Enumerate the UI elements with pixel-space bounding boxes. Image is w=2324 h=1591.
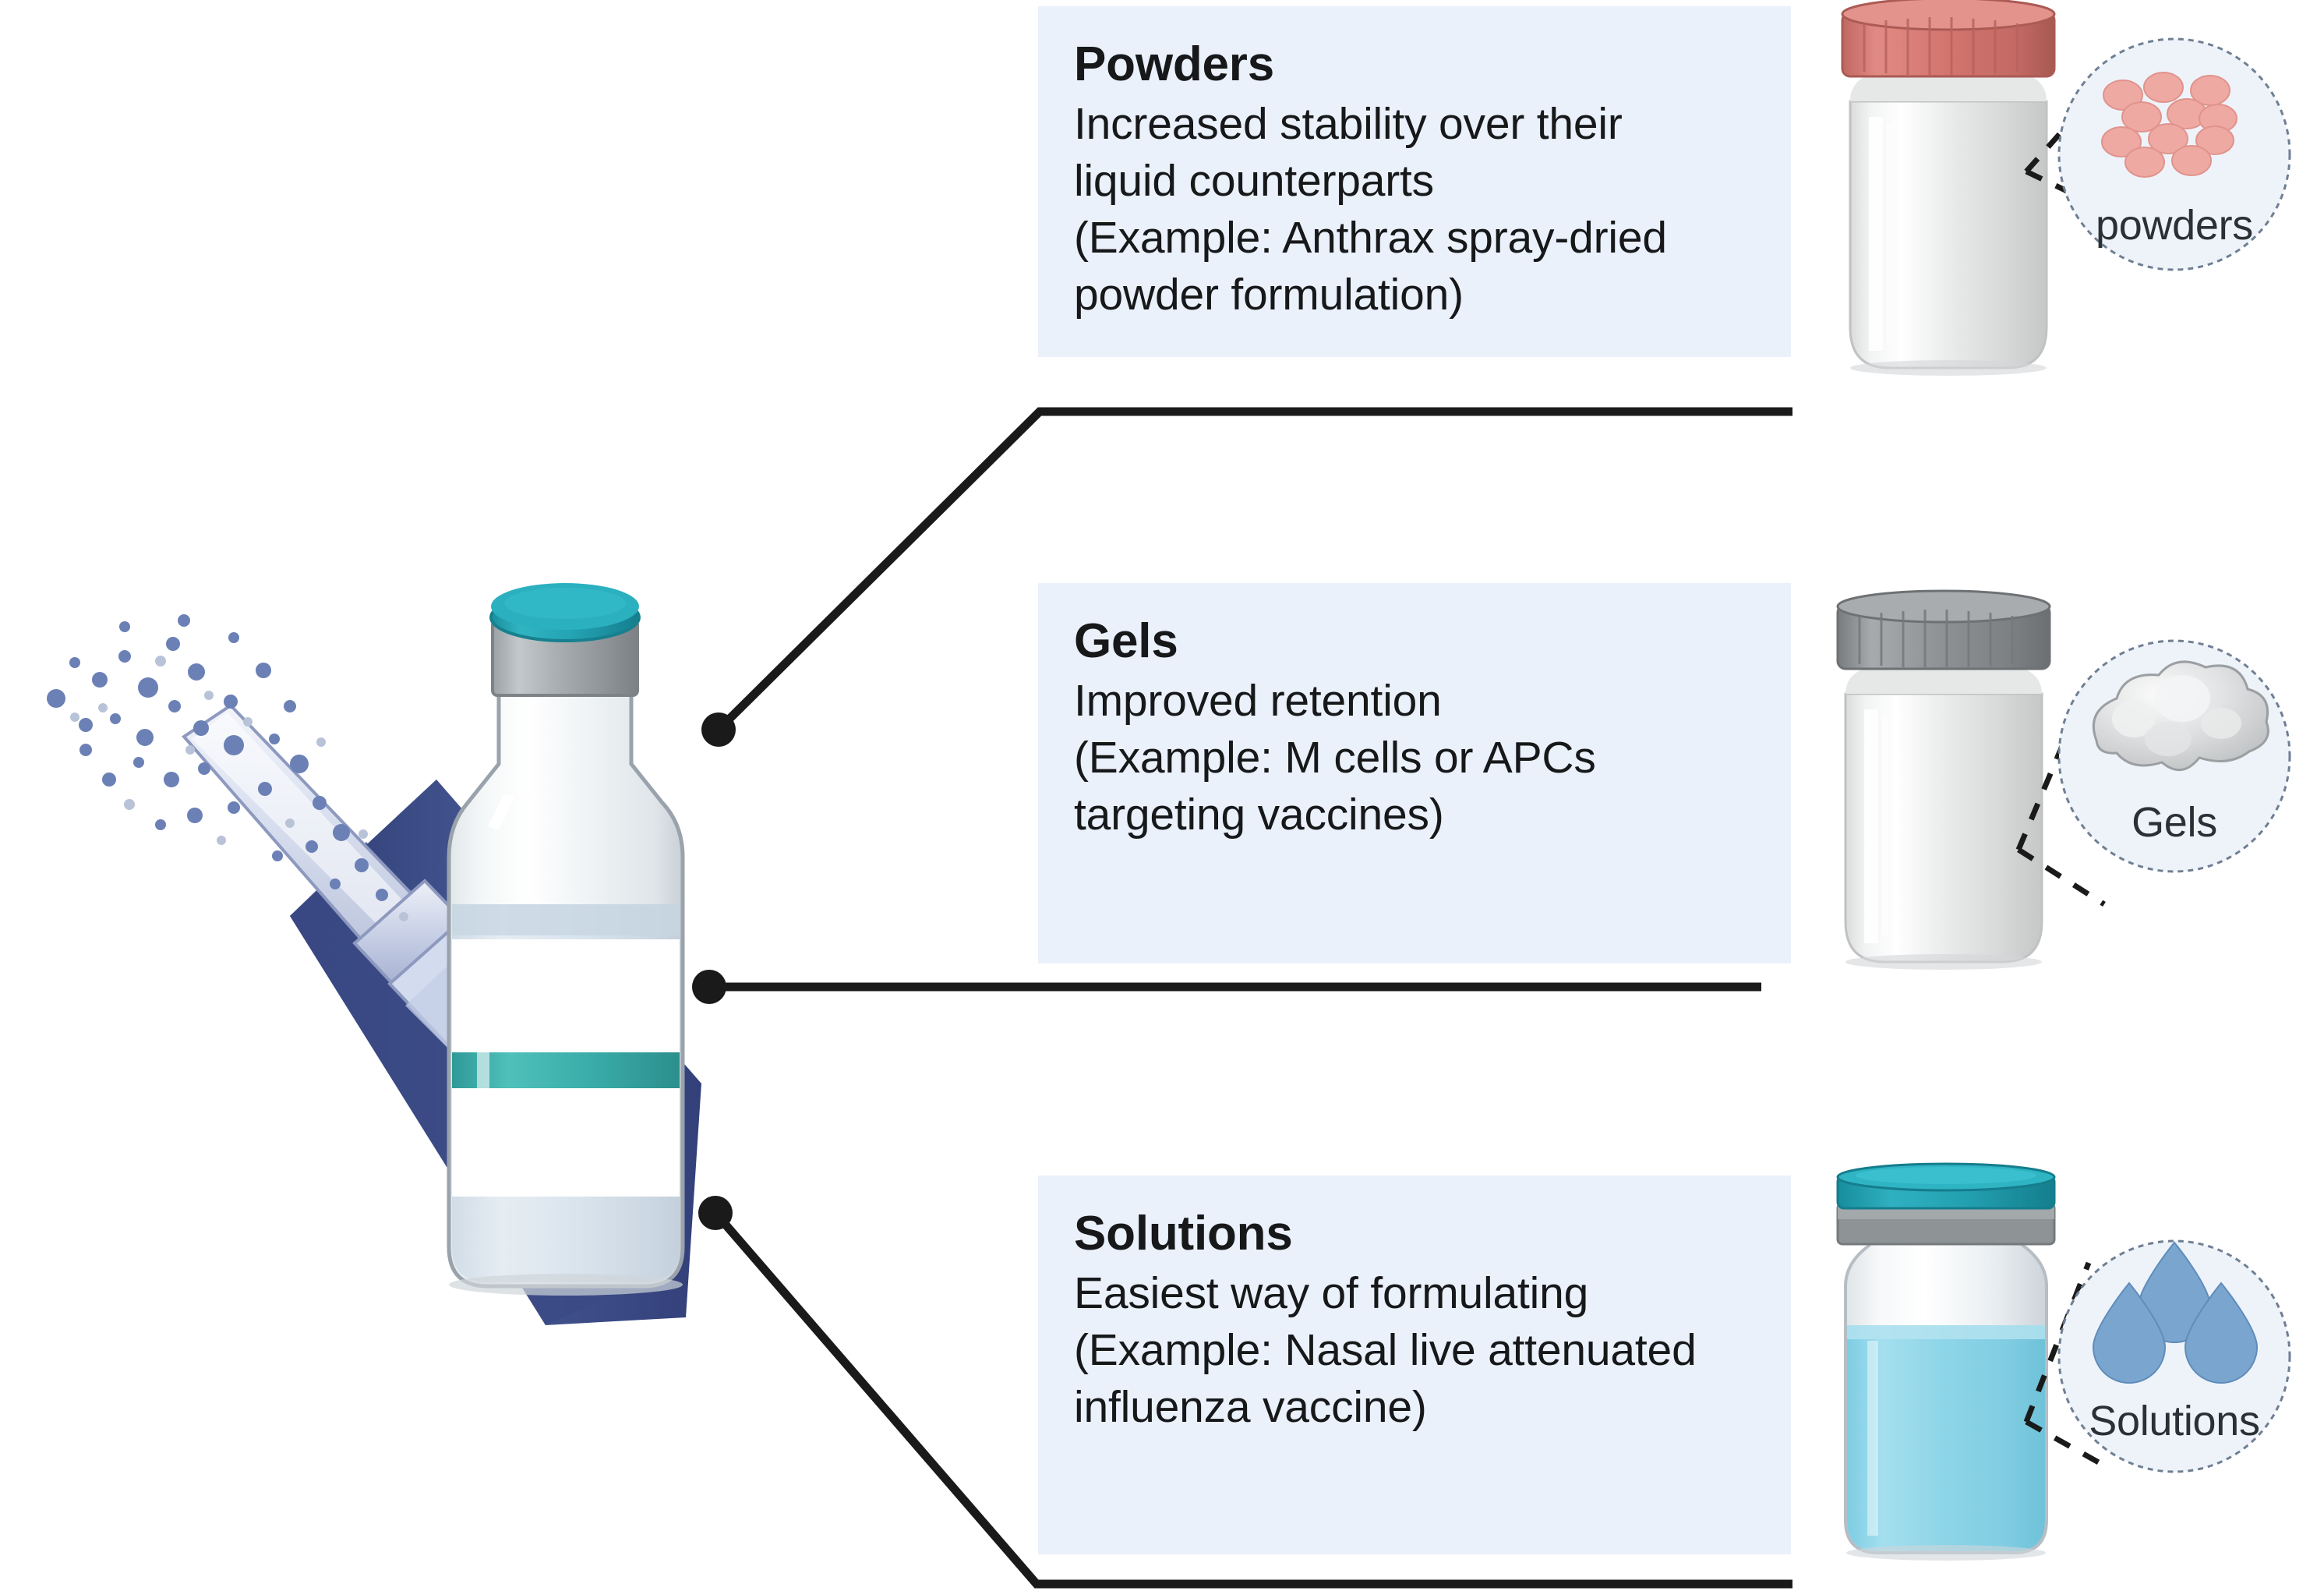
- callout-label-powders: powders: [2011, 201, 2324, 249]
- product-illustrations: [0, 0, 2324, 1591]
- gel-bottle-illustration: [1838, 591, 2050, 970]
- solution-vial-illustration: [1838, 1164, 2054, 1561]
- figure-canvas: Powders Increased stability over their l…: [0, 0, 2324, 1591]
- powder-bottle-illustration: [1842, 0, 2054, 376]
- callout-label-solutions: Solutions: [2011, 1397, 2324, 1445]
- callout-label-gels: Gels: [2011, 798, 2324, 847]
